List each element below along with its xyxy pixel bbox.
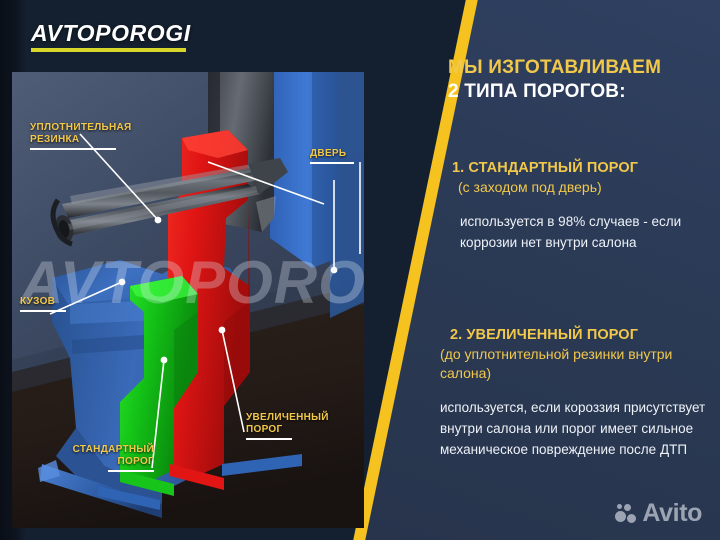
section-standard-title: 1. СТАНДАРТНЫЙ ПОРОГ	[448, 158, 720, 178]
info-panel-content: МЫ ИЗГОТАВЛИВАЕМ 2 ТИПА ПОРОГОВ: 1. СТАН…	[448, 0, 710, 540]
label-door-underline	[310, 162, 354, 164]
panel-header-line1: МЫ ИЗГОТАВЛИВАЕМ	[448, 56, 710, 80]
section-extended-subtitle: (до уплотнительной резинки внутри салона…	[440, 345, 720, 383]
section-extended-title: 2. УВЕЛИЧЕННЫЙ ПОРОГ	[440, 325, 720, 345]
section-standard-body: используется в 98% случаев - если корроз…	[448, 211, 720, 253]
label-body: КУЗОВ	[20, 296, 66, 312]
avito-logo-icon	[615, 504, 637, 524]
section-extended-body: используется, если короззия присутствует…	[440, 397, 720, 460]
label-standard-sill-line1: СТАНДАРТНЫЙ	[70, 444, 154, 456]
label-seal-rubber-underline	[30, 148, 116, 150]
label-door: ДВЕРЬ	[310, 148, 354, 164]
brand-logo-text: AVTOPOROGI	[31, 22, 191, 45]
label-seal-rubber: УПЛОТНИТЕЛЬНАЯ РЕЗИНКА	[30, 122, 132, 150]
label-body-underline	[20, 310, 66, 312]
sill-cross-section-diagram: AVTOPOROGI УПЛОТНИТЕЛЬНАЯ РЕЗИНКА ДВЕРЬ …	[12, 72, 364, 528]
section-extended-sill: 2. УВЕЛИЧЕННЫЙ ПОРОГ (до уплотнительной …	[440, 325, 720, 460]
section-standard-sill: 1. СТАНДАРТНЫЙ ПОРОГ (с заходом под двер…	[448, 158, 720, 253]
section-standard-subtitle: (с заходом под дверь)	[448, 178, 720, 197]
label-extended-sill: УВЕЛИЧЕННЫЙ ПОРОГ	[246, 412, 329, 440]
label-standard-sill-line2: ПОРОГ	[70, 456, 154, 468]
brand-logo-underline	[31, 48, 186, 52]
avito-wordmark: Avito	[642, 501, 702, 526]
label-extended-sill-underline	[246, 438, 292, 440]
label-seal-rubber-line2: РЕЗИНКА	[30, 134, 132, 146]
panel-header: МЫ ИЗГОТАВЛИВАЕМ 2 ТИПА ПОРОГОВ:	[448, 56, 710, 104]
label-standard-sill: СТАНДАРТНЫЙ ПОРОГ	[70, 444, 154, 472]
panel-header-line2: 2 ТИПА ПОРОГОВ:	[448, 80, 710, 104]
label-seal-rubber-line1: УПЛОТНИТЕЛЬНАЯ	[30, 122, 132, 134]
label-body-line1: КУЗОВ	[20, 296, 66, 308]
brand-logo: AVTOPOROGI	[31, 22, 191, 52]
label-door-line1: ДВЕРЬ	[310, 148, 354, 160]
poster-canvas: AVTOPOROGI	[0, 0, 720, 540]
avito-watermark: Avito	[615, 501, 702, 526]
label-extended-sill-line1: УВЕЛИЧЕННЫЙ	[246, 412, 329, 424]
label-standard-sill-underline	[108, 470, 154, 472]
label-extended-sill-line2: ПОРОГ	[246, 424, 329, 436]
